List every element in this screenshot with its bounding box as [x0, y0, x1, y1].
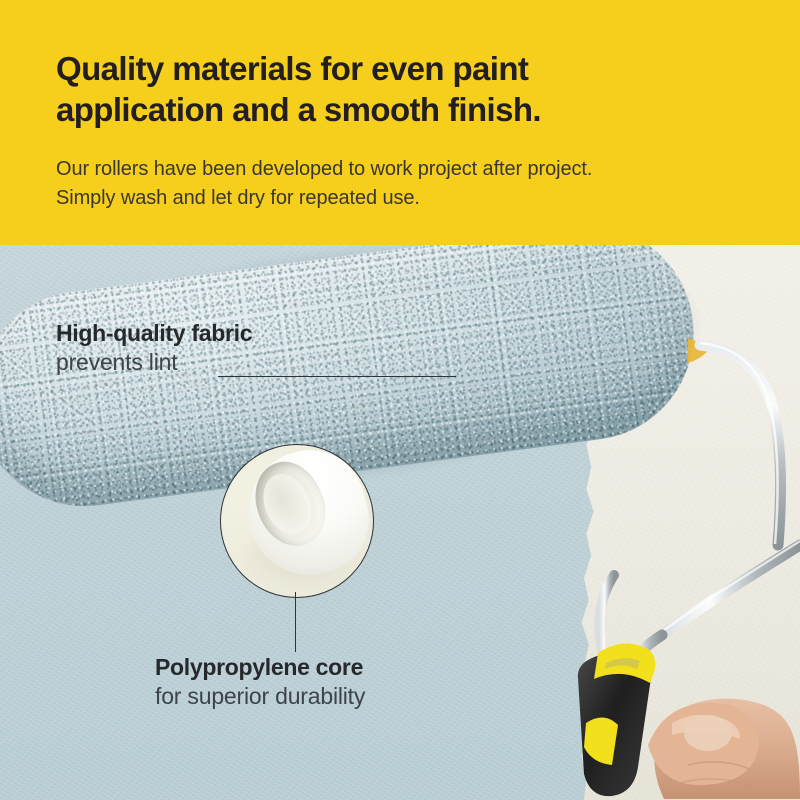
callout-fabric: High-quality fabric prevents lint	[56, 319, 252, 377]
callout-core-subtitle: for superior durability	[155, 681, 365, 711]
subheadline: Our rollers have been developed to work …	[56, 155, 776, 213]
callout-fabric-subtitle: prevents lint	[56, 347, 252, 377]
subheadline-line-2: Simply wash and let dry for repeated use…	[56, 184, 776, 213]
subheadline-line-1: Our rollers have been developed to work …	[56, 155, 776, 184]
banner: Quality materials for even paint applica…	[0, 0, 800, 245]
core-detail-circle	[220, 444, 374, 598]
headline-line-2: application and a smooth finish.	[56, 89, 756, 130]
leader-line-vertical-icon	[295, 592, 296, 652]
callout-core-title: Polypropylene core	[155, 653, 365, 681]
callout-core: Polypropylene core for superior durabili…	[155, 653, 365, 711]
headline-line-1: Quality materials for even paint	[56, 48, 756, 89]
frame-upper-highlight	[700, 343, 777, 544]
frame-upper-arm	[700, 345, 780, 545]
product-feature-graphic: Quality materials for even paint applica…	[0, 0, 800, 800]
frame-lower-arm	[662, 545, 800, 635]
callout-fabric-title: High-quality fabric	[56, 319, 252, 347]
leader-line-horizontal-icon	[218, 376, 456, 377]
frame-crank	[599, 575, 614, 649]
thumbnail	[684, 715, 732, 751]
frame-lower-highlight	[663, 541, 800, 631]
product-photo: High-quality fabric prevents lint Polypr…	[0, 245, 800, 800]
page-title: Quality materials for even paint applica…	[56, 48, 756, 130]
